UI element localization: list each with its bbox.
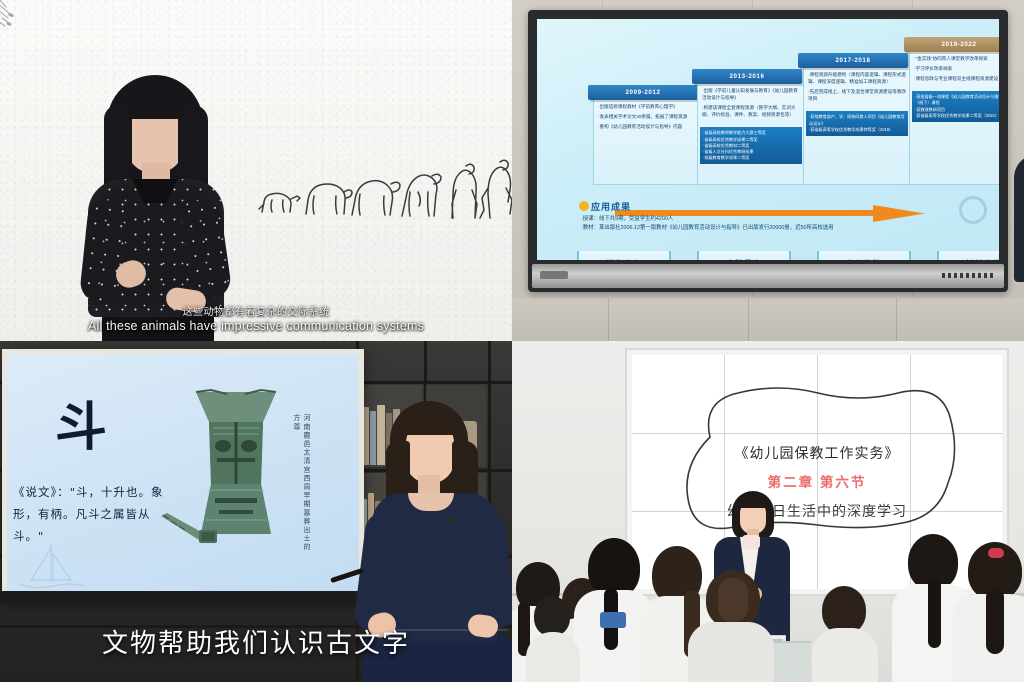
student-figure (526, 596, 580, 682)
results-heading: 应用成果 (591, 200, 631, 213)
results-line: ·教材：某出版社2006.12第一版教材《幼儿园教育活动设计与指导》已出版发行2… (581, 224, 999, 233)
artifact-caption: 河南鹿邑太清宫西周早期墓葬出土的方尊 (297, 414, 311, 554)
award-item: ·获省级高等学校优秀教学成果特等奖（2018） (809, 127, 905, 133)
board-control-tray[interactable] (532, 264, 1004, 288)
screen-title-line-1: 《幼儿园保教工作实务》 (632, 443, 1002, 463)
screen-title-line-3: 幼儿一日生活中的深度学习 (632, 501, 1002, 521)
timeline-bullet: ·课程资源升级建构（课程内容逻辑、课程形式逻辑、课程深度逻辑、精准加工课程资源） (808, 71, 906, 85)
tray-vent-grille (942, 273, 994, 278)
presenter-figure-1 (80, 75, 230, 341)
human-evolution-graphic (256, 140, 512, 230)
smart-board-screen[interactable]: 2009-2012 ·出版选修课程教材《学前教育心理学》 ·发表相关学术论文30… (537, 19, 999, 260)
results-bullet-icon (579, 201, 589, 211)
pill-student-center[interactable]: 学生中心 (577, 251, 671, 260)
timeline-card-3[interactable]: 2017-2018 ·课程资源升级建构（课程内容逻辑、课程形式逻辑、课程深度逻辑… (803, 65, 911, 185)
results-text: ·授课：线下共9期，受益学生约4200人 ·教材：某出版社2006.12第一版教… (581, 215, 999, 233)
student-figure (688, 570, 774, 682)
panel-bottom-left[interactable]: 斗 《说文》："斗，十升也。象形，有柄。凡斗之属皆从斗。" (0, 341, 512, 682)
screen-title-line-2: 第二章 第六节 (632, 471, 1002, 491)
timeline-bullet: ·重构《幼儿园教育活动设计与指导》内容 (598, 123, 696, 130)
timeline-awards-3: ·获批教育部产、学、研协同育人项目《幼儿园教育活动设计》 ·获省级高等学校优秀教… (806, 111, 908, 135)
tray-power-button[interactable] (540, 271, 568, 279)
results-line: ·授课：线下共9期，受益学生约4200人 (581, 215, 999, 224)
student-figure (952, 542, 1024, 682)
lapel-microphone (448, 517, 453, 525)
timeline-bullet: ·学习评价改革探索 (914, 65, 999, 72)
display-stand (0, 591, 358, 603)
shuowen-quotation: 《说文》："斗，十升也。象形，有柄。凡斗之属皆从斗。" (13, 482, 181, 548)
timeline-period-3: 2017-2018 (798, 53, 908, 68)
timeline-card-4[interactable]: 2019-2022 ·"金实践"协同育人课堂教学改革探索 ·学习评价改革探索 ·… (909, 49, 999, 185)
pill-multi-construct[interactable]: 多元构建 (817, 251, 911, 260)
timeline-card-2[interactable]: 2013-2016 ·出版《学前儿童认知发展与教育》《幼儿园教育活动设计与指导》… (697, 81, 805, 185)
award-item: ·获批教育部产、学、研协同育人项目《幼儿园教育活动设计》 (809, 114, 905, 126)
wall-cabinet (512, 298, 1024, 341)
slide-watermark-logo (959, 196, 987, 224)
timeline-bullet: ·"金实践"协同育人课堂教学改革探索 (914, 55, 999, 62)
display-screen-frame[interactable]: 斗 《说文》："斗，十升也。象形，有柄。凡斗之属皆从斗。" (2, 349, 364, 599)
panel-top-right[interactable]: 2009-2012 ·出版选修课程教材《学前教育心理学》 ·发表相关学术论文30… (512, 0, 1024, 341)
award-item: ·获省级高等学校优秀教学成果二等奖（2021） (915, 113, 999, 119)
award-item: ·获批省级一流课程《幼儿园教育活动设计与指导》（线下）课程 (915, 94, 999, 106)
timeline-bullet: ·出版选修课程教材《学前教育心理学》 (598, 103, 696, 110)
ink-wash-boat-icon (15, 540, 89, 592)
bronze-ladle-icon (159, 512, 225, 546)
oracle-bone-glyph: 斗 (55, 402, 107, 454)
display-screen[interactable]: 斗 《说文》："斗，十升也。象形，有柄。凡斗之属皆从斗。" (7, 354, 359, 594)
award-item: ·校级教育教学成果二等奖 (703, 155, 799, 161)
timeline-period-4: 2019-2022 (904, 37, 999, 52)
quad-video-grid: 这些动物都有着复杂的交际系统 All these animals have im… (0, 0, 1024, 682)
timeline-bullet: ·先后完成线上、线下及混合课堂资源建设等教改项目 (808, 88, 906, 102)
timeline-bullet: ·构建该课程全套课程资源（教学大纲、实训大纲、评价标准、课件、教案、视频资源包等… (702, 104, 800, 118)
timeline-period-2: 2013-2016 (692, 69, 802, 84)
presenter-figure-3 (356, 401, 512, 682)
timeline-bullet: ·出版《学前儿童认知发展与教育》《幼儿园教育活动设计与指导》 (702, 87, 800, 101)
timeline-card-1[interactable]: 2009-2012 ·出版选修课程教材《学前教育心理学》 ·发表相关学术论文30… (593, 97, 701, 185)
student-figure (812, 586, 878, 682)
principle-pills: 学生中心 实践导向 多元构建 持续改进 (577, 251, 999, 260)
pill-practice-oriented[interactable]: 实践导向 (697, 251, 791, 260)
twig-decoration-icon (0, 0, 42, 40)
smart-board[interactable]: 2009-2012 ·出版选修课程教材《学前教育心理学》 ·发表相关学术论文30… (528, 10, 1008, 292)
panel-top-left[interactable]: 这些动物都有着复杂的交际系统 All these animals have im… (0, 0, 512, 341)
timeline-awards-4: ·获批省级一流课程《幼儿园教育活动设计与指导》（线下）课程 ·获教改教研项目 ·… (912, 91, 999, 122)
timeline-bullet: ·发表相关学术论文30余篇，拓展了课程资源 (598, 113, 696, 120)
timeline-period-1: 2009-2012 (588, 85, 698, 100)
pill-continuous-improve[interactable]: 持续改进 (937, 251, 999, 260)
timeline-bullet: ·课程思政与专业课程双主线课程资源建设 (914, 75, 999, 82)
presenter-figure-2 (1012, 86, 1024, 341)
panel-bottom-right[interactable]: 《幼儿园保教工作实务》 第二章 第六节 幼儿一日生活中的深度学习 (512, 341, 1024, 682)
timeline-awards-2: ·省级高校教师教学能力大赛三等奖 ·省级高校优秀教学成果二等奖 ·省级高校优秀教… (700, 127, 802, 164)
